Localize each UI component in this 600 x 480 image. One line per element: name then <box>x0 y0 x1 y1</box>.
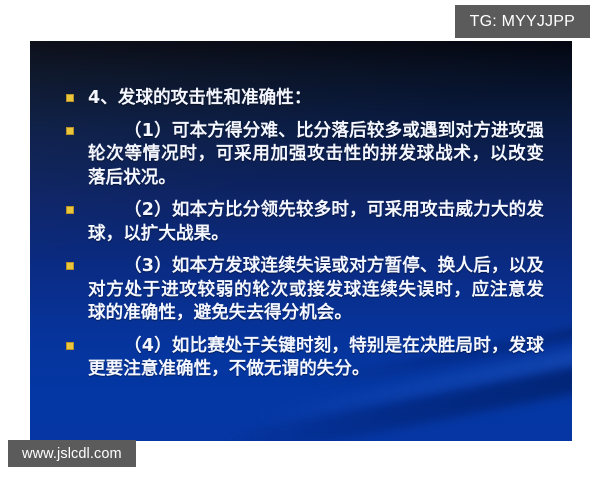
bullet-square-icon <box>66 342 74 350</box>
slide-paragraph-1: （1）可本方得分难、比分落后较多或遇到对方进攻强轮次等情况时，可采用加强攻击性的… <box>62 120 544 191</box>
bullet-square-icon <box>66 262 74 270</box>
telegram-watermark-badge: TG: MYYJJPP <box>455 5 590 38</box>
slide-heading-line: 4、发球的攻击性和准确性： <box>62 87 544 111</box>
slide-paragraph-1-text: （1）可本方得分难、比分落后较多或遇到对方进攻强轮次等情况时，可采用加强攻击性的… <box>88 121 544 188</box>
site-url-watermark-badge: www.jslcdl.com <box>8 440 136 467</box>
slide-paragraph-4: （4）如比赛处于关键时刻，特别是在决胜局时，发球更要注意准确性，不做无谓的失分。 <box>62 335 544 382</box>
presentation-slide: 4、发球的攻击性和准确性： （1）可本方得分难、比分落后较多或遇到对方进攻强轮次… <box>30 41 572 441</box>
bullet-square-icon <box>66 206 74 214</box>
slide-paragraph-3-text: （3）如本方发球连续失误或对方暂停、换人后，以及对方处于进攻较弱的轮次或接发球连… <box>88 256 544 323</box>
slide-paragraph-2: （2）如本方比分领先较多时，可采用攻击威力大的发球，以扩大战果。 <box>62 199 544 246</box>
slide-paragraph-3: （3）如本方发球连续失误或对方暂停、换人后，以及对方处于进攻较弱的轮次或接发球连… <box>62 255 544 326</box>
slide-paragraph-2-text: （2）如本方比分领先较多时，可采用攻击威力大的发球，以扩大战果。 <box>88 200 544 244</box>
bullet-square-icon <box>66 94 74 102</box>
bullet-square-icon <box>66 127 74 135</box>
slide-heading-text: 4、发球的攻击性和准确性： <box>88 88 311 108</box>
slide-text-body: 4、发球的攻击性和准确性： （1）可本方得分难、比分落后较多或遇到对方进攻强轮次… <box>62 87 544 382</box>
slide-paragraph-4-text: （4）如比赛处于关键时刻，特别是在决胜局时，发球更要注意准确性，不做无谓的失分。 <box>88 336 544 380</box>
